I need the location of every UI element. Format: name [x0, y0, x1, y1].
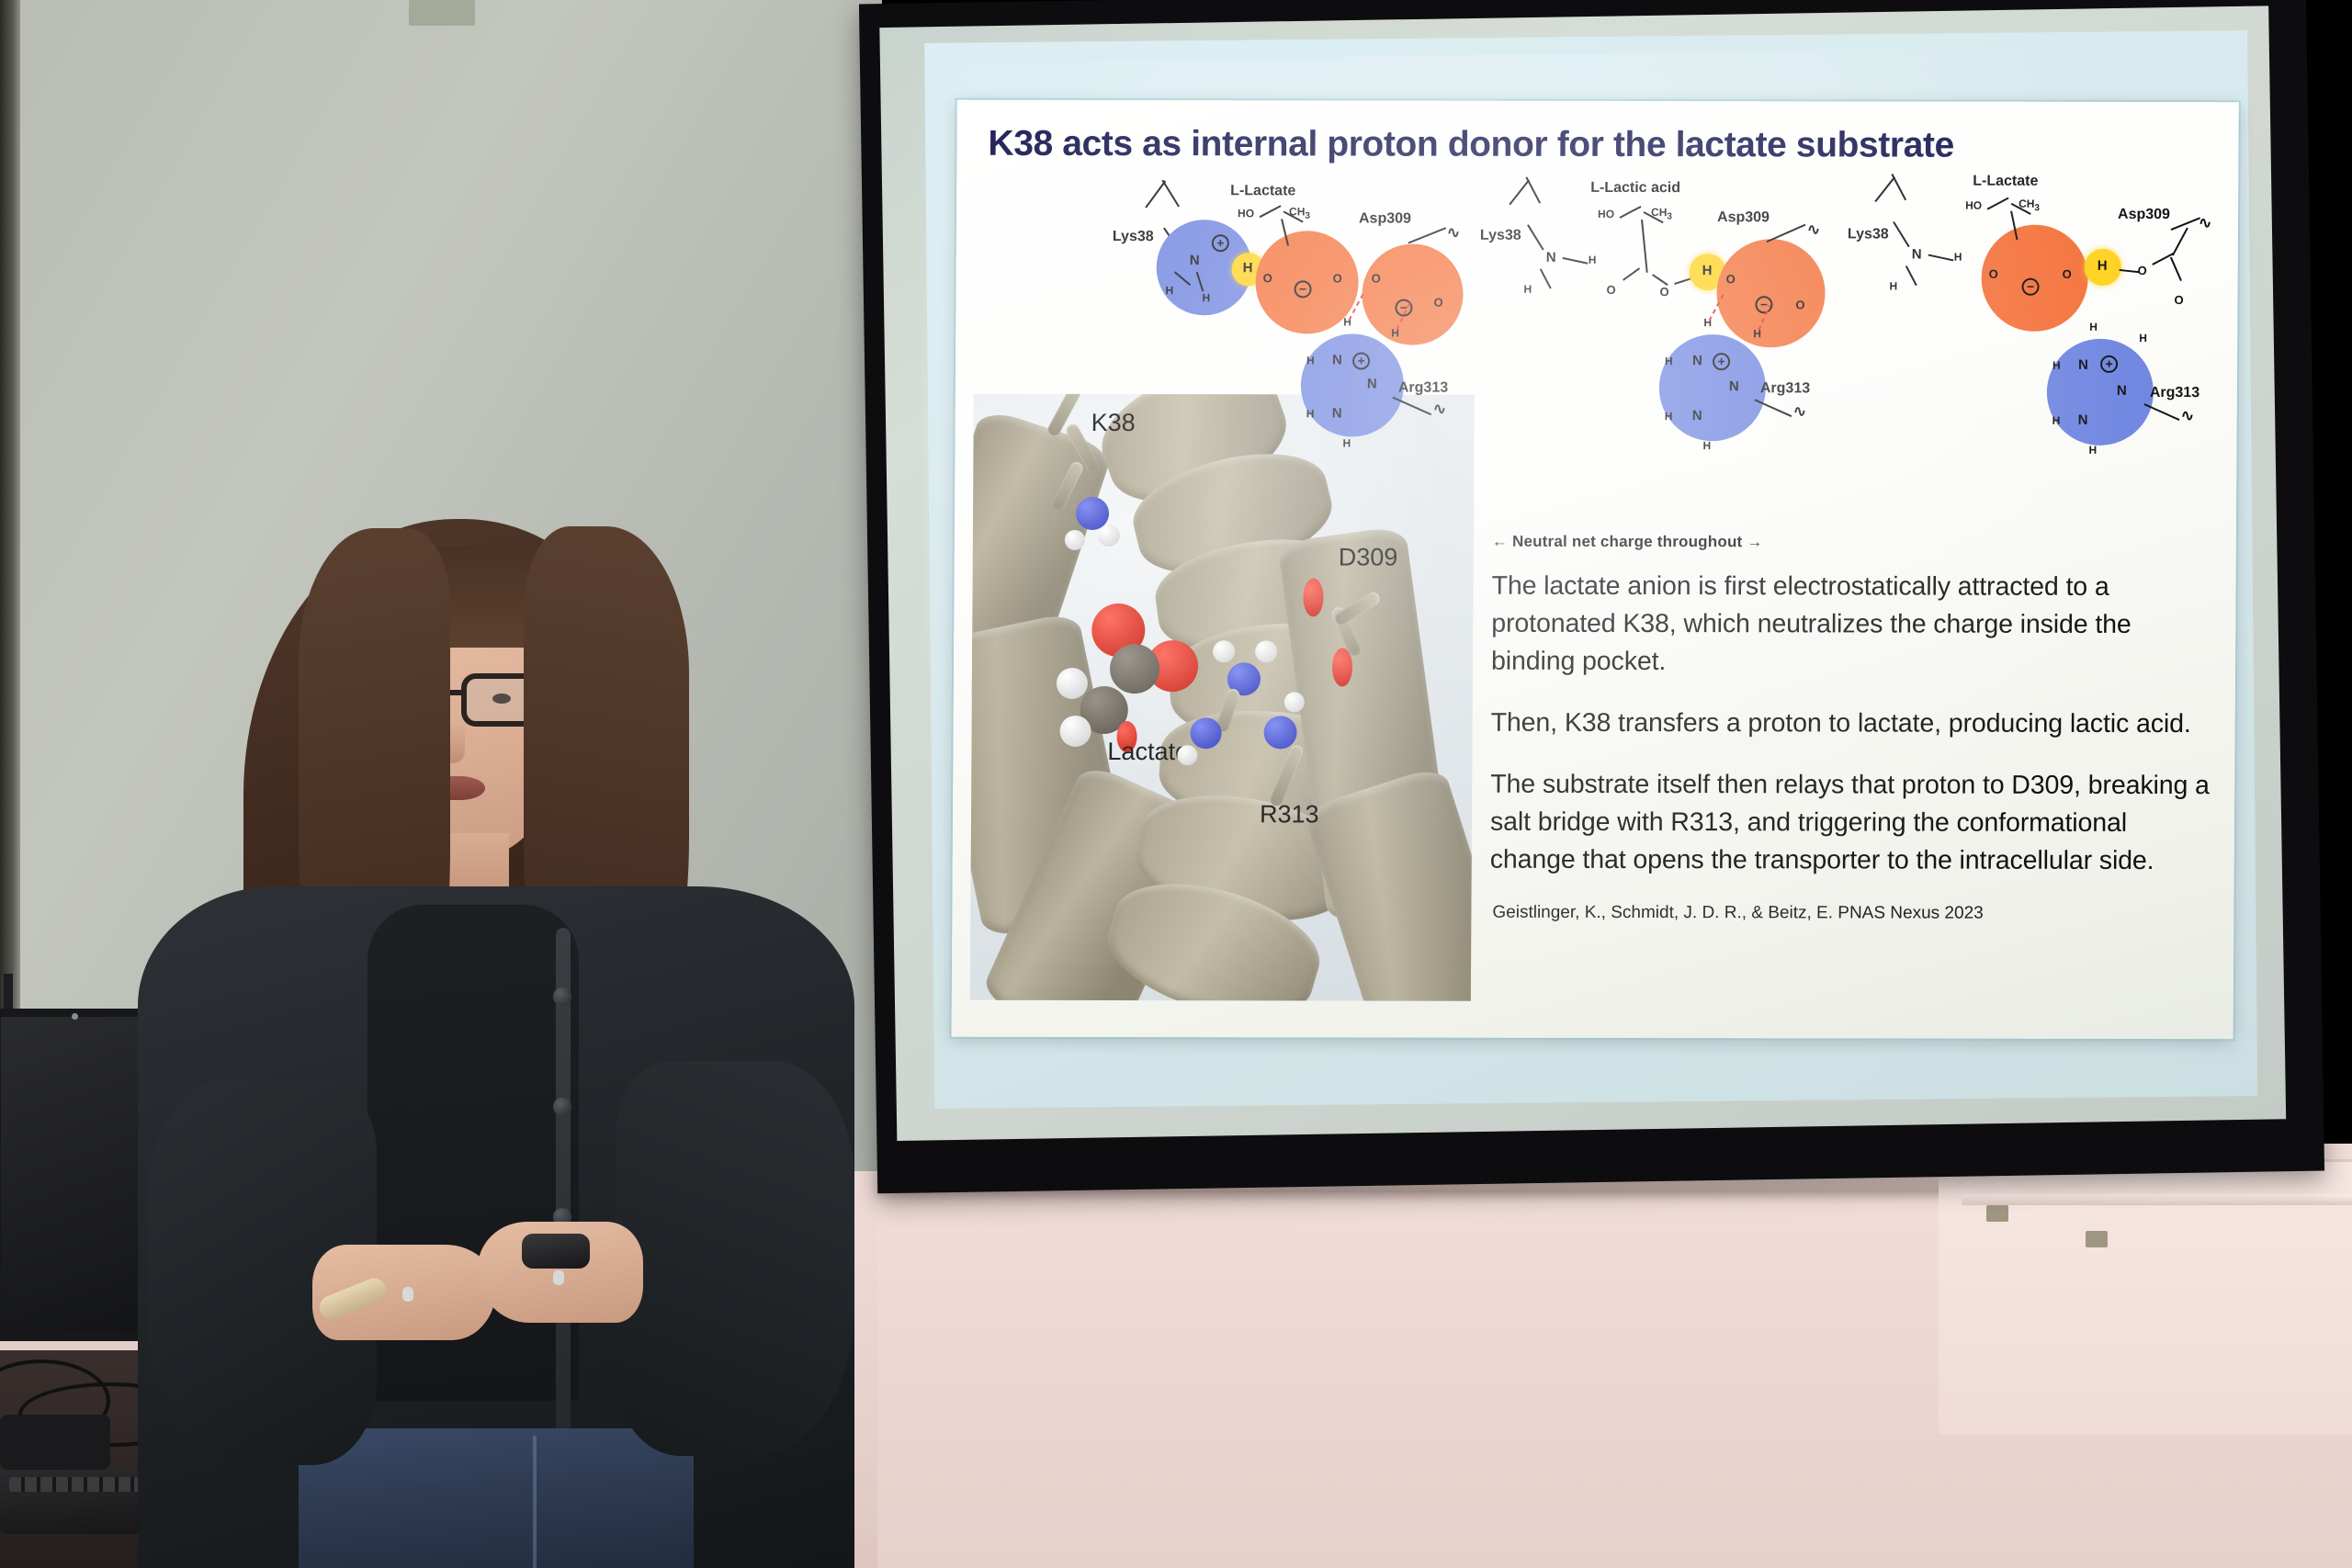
desk-clutter	[0, 1415, 110, 1470]
presenter	[138, 510, 900, 1568]
wall-fixture	[409, 0, 475, 26]
cardigan-button	[553, 987, 571, 1006]
scheme-panel-2: Lys38 N H H L-Lactic acid HO CH3	[1478, 173, 1829, 541]
scheme-panel-3: Lys38 N H H L-Lactate HO CH3	[1846, 173, 2197, 541]
slide-body-text: The lactate anion is first electrostatic…	[1489, 568, 2217, 904]
reaction-scheme: Lys38 N + H H H L-Lactate	[1111, 172, 2230, 559]
slide-title: K38 acts as internal proton donor for th…	[988, 124, 2200, 166]
charge-positive: +	[1212, 234, 1229, 252]
label-lys38: Lys38	[1113, 229, 1154, 245]
charge-negative: −	[1294, 280, 1311, 298]
presentation-clicker[interactable]	[522, 1234, 590, 1269]
body-paragraph-1: The lactate anion is first electrostatic…	[1491, 568, 2218, 682]
whiteboard-clip	[1986, 1205, 2008, 1222]
jeans	[299, 1428, 694, 1568]
body-paragraph-3: The substrate itself then relays that pr…	[1490, 766, 2217, 880]
charge-positive: +	[1352, 352, 1370, 369]
label-arg313: Arg313	[1760, 380, 1810, 397]
scheme-panel-1: Lys38 N + H H H L-Lactate	[1111, 172, 1462, 540]
label-asp309: Asp309	[1717, 209, 1770, 226]
label-l-lactate: L-Lactate	[1230, 183, 1295, 199]
projection-screen-frame: K38 acts as internal proton donor for th…	[859, 0, 2324, 1193]
label-lys38: Lys38	[1480, 228, 1521, 244]
label-lys38: Lys38	[1848, 226, 1889, 243]
label-arg313: Arg313	[2150, 385, 2199, 401]
proton-label: H	[1702, 263, 1713, 278]
proton-label: H	[1243, 260, 1253, 276]
label-asp309: Asp309	[1359, 210, 1411, 227]
body-paragraph-2: Then, K38 transfers a proton to lactate,…	[1491, 705, 2217, 743]
whiteboard-marker-rail	[1962, 1194, 2352, 1205]
charge-positive: +	[2100, 355, 2118, 373]
monitor-power-led	[72, 1013, 78, 1020]
label-l-lactate: L-Lactate	[1973, 174, 2038, 190]
label-r313: R313	[1260, 800, 1319, 829]
ring	[402, 1287, 413, 1302]
jeans-seam	[533, 1436, 537, 1568]
lecture-room-scene: K38 acts as internal proton donor for th…	[0, 0, 2352, 1568]
label-l-lactic-acid: L-Lactic acid	[1590, 180, 1680, 197]
whiteboard-clip	[2086, 1231, 2108, 1247]
proton-label: H	[2098, 258, 2108, 274]
label-asp309: Asp309	[2118, 207, 2170, 223]
presentation-slide: K38 acts as internal proton donor for th…	[952, 100, 2239, 1039]
ring	[553, 1270, 564, 1285]
cardigan-button	[553, 1098, 571, 1116]
arm-right	[616, 1061, 854, 1456]
charge-positive: +	[1713, 353, 1730, 370]
projection-screen-surface: K38 acts as internal proton donor for th…	[879, 6, 2286, 1141]
label-arg313: Arg313	[1398, 380, 1448, 397]
charge-negative: −	[2022, 278, 2040, 296]
slide-citation: Geistlinger, K., Schmidt, J. D. R., & Be…	[1492, 903, 1983, 924]
neutral-charge-note: ← Neutral net charge throughout →	[1492, 533, 1763, 552]
